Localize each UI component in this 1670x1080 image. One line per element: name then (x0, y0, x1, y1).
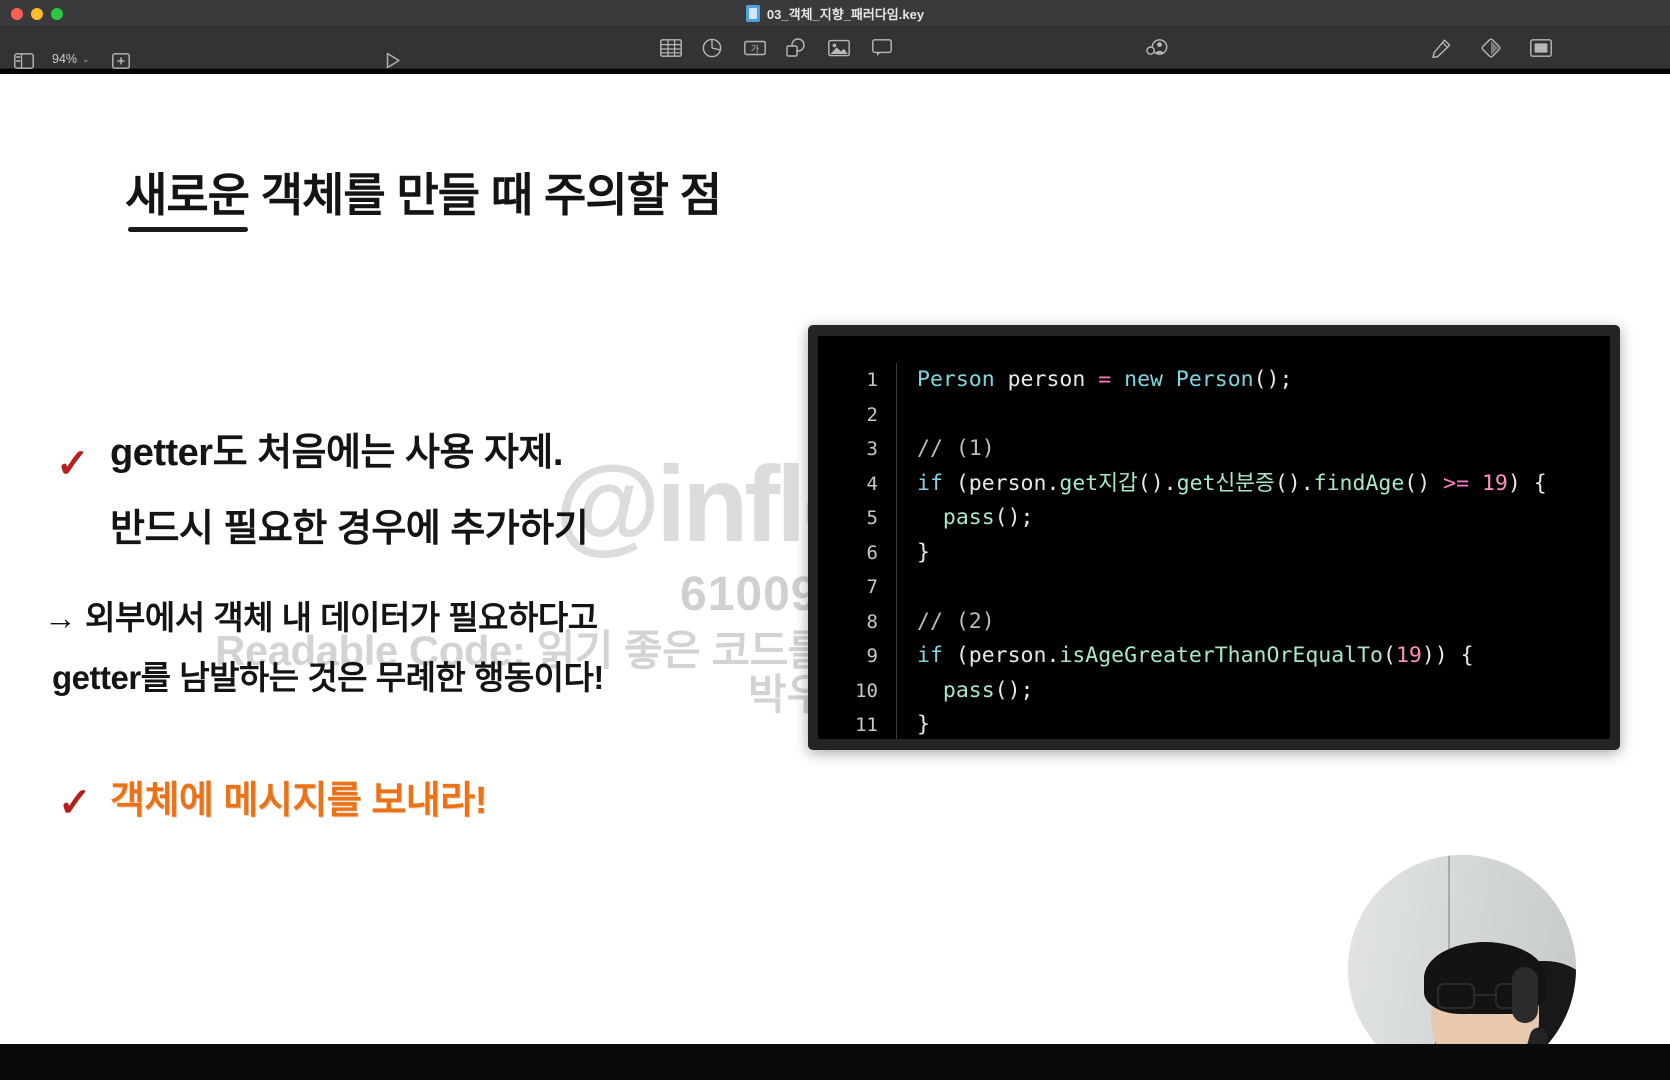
code-line: 1Person person = new Person(); (818, 363, 1610, 398)
slide-canvas[interactable]: 새로운 객체를 만들 때 주의할 점 @inflearn 610092 Read… (0, 69, 1670, 1080)
gutter (896, 398, 897, 433)
line-number: 7 (818, 570, 896, 605)
check-mark-icon-2: ✓ (58, 783, 92, 823)
line-number: 4 (818, 467, 896, 502)
code-block[interactable]: 1Person person = new Person();23// (1)4i… (808, 325, 1620, 750)
zoom-control[interactable]: 94% ⌄ (52, 52, 90, 66)
gutter (896, 363, 897, 398)
keynote-window: 03_객체_지향_패러다임.key 94% ⌄ (0, 0, 1670, 1080)
document-title: 03_객체_지향_패러다임.key (0, 0, 1670, 27)
bullet-1-line-2: 반드시 필요한 경우에 추가하기 (110, 497, 588, 552)
collaborate-icon[interactable] (1146, 34, 1168, 62)
line-number: 10 (818, 674, 896, 709)
line-number: 11 (818, 708, 896, 739)
svg-text:가: 가 (751, 44, 759, 55)
code-inner: 1Person person = new Person();23// (1)4i… (818, 336, 1610, 739)
gutter (896, 570, 897, 605)
line-number: 8 (818, 605, 896, 640)
line-number: 2 (818, 398, 896, 433)
note-line-1: → 외부에서 객체 내 데이터가 필요하다고 (44, 591, 598, 639)
table-icon[interactable] (660, 34, 682, 62)
code-text: // (2) (917, 605, 995, 640)
text-icon[interactable]: 가 (744, 34, 766, 62)
code-text: if (person.isAgeGreaterThanOrEqualTo(19)… (917, 639, 1474, 674)
gutter (896, 605, 897, 640)
code-text: if (person.get지갑().get신분증().findAge() >=… (917, 467, 1547, 502)
code-line: 7 (818, 570, 1610, 605)
code-text: pass(); (917, 501, 1034, 536)
code-text: } (917, 536, 930, 571)
code-line: 3// (1) (818, 432, 1610, 467)
code-text: pass(); (917, 674, 1034, 709)
code-line: 10 pass(); (818, 674, 1610, 709)
line-number: 5 (818, 501, 896, 536)
code-line: 5 pass(); (818, 501, 1610, 536)
toolbar: 94% ⌄ (0, 27, 1670, 69)
code-line: 4if (person.get지갑().get신분증().findAge() >… (818, 467, 1610, 502)
line-number: 9 (818, 639, 896, 674)
document-title-text: 03_객체_지향_패러다임.key (767, 4, 924, 23)
line-number: 1 (818, 363, 896, 398)
line-number: 6 (818, 536, 896, 571)
highlight-text: 객체에 메시지를 보내라! (110, 769, 487, 824)
gutter (896, 501, 897, 536)
animate-icon[interactable] (1480, 34, 1502, 62)
presenter-headphone (1512, 967, 1538, 1023)
comment-icon[interactable] (872, 34, 892, 62)
document-settings-icon[interactable] (1530, 34, 1552, 62)
gutter (896, 639, 897, 674)
code-line: 11} (818, 708, 1610, 739)
code-text: Person person = new Person(); (917, 363, 1292, 398)
slide-title: 새로운 객체를 만들 때 주의할 점 (125, 159, 721, 225)
canvas-bottom-band (0, 1044, 1670, 1080)
gutter (896, 467, 897, 502)
code-line: 8// (2) (818, 605, 1610, 640)
check-mark-icon: ✓ (56, 444, 90, 484)
code-line: 2 (818, 398, 1610, 433)
chart-icon[interactable] (702, 34, 722, 62)
code-lines: 1Person person = new Person();23// (1)4i… (818, 363, 1610, 739)
title-bar: 03_객체_지향_패러다임.key (0, 0, 1670, 27)
gutter (896, 432, 897, 467)
code-text: // (1) (917, 432, 995, 467)
canvas-top-band (0, 69, 1670, 74)
chevron-down-icon: ⌄ (82, 54, 90, 65)
title-underline (128, 227, 248, 232)
format-icon[interactable] (1430, 34, 1452, 62)
shape-icon[interactable] (786, 34, 806, 62)
zoom-level-label: 94% (52, 52, 77, 66)
code-line: 9if (person.isAgeGreaterThanOrEqualTo(19… (818, 639, 1610, 674)
bullet-1-line-1: getter도 처음에는 사용 자제. (110, 421, 563, 476)
line-number: 3 (818, 432, 896, 467)
gutter (896, 708, 897, 739)
gutter (896, 536, 897, 571)
keynote-document-icon (746, 5, 760, 22)
gutter (896, 674, 897, 709)
code-text: } (917, 708, 930, 739)
note-line-2: getter를 남발하는 것은 무례한 행동이다! (52, 651, 604, 699)
code-line: 6} (818, 536, 1610, 571)
media-icon[interactable] (828, 34, 850, 62)
